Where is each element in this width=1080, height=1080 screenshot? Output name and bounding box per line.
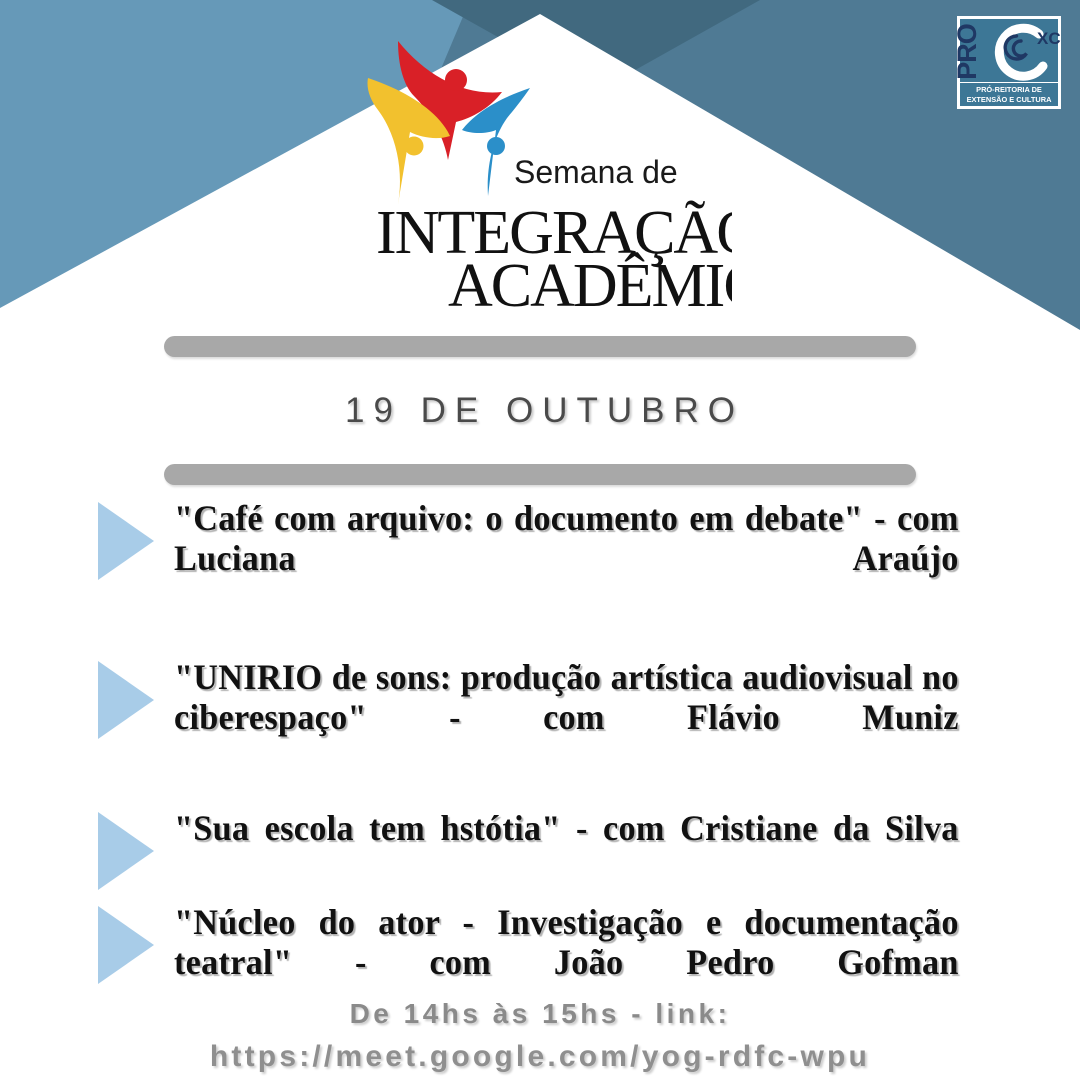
triangle-right-icon bbox=[98, 661, 154, 739]
triangle-right-icon bbox=[98, 812, 154, 890]
proexc-subtitle-line1: PRÓ-REITORIA DE bbox=[976, 85, 1042, 94]
footer-time-text: De 14hs às 15hs - link: bbox=[0, 998, 1080, 1030]
date-text: 19 DE OUTUBRO bbox=[0, 391, 1080, 431]
session-item: "Café com arquivo: o documento em debate… bbox=[0, 498, 1080, 619]
session-title: "UNIRIO de sons: produção artística audi… bbox=[174, 657, 959, 778]
poster-canvas: PRO XC PRÓ-REITORIA DE EXTENSÃO E CULTUR… bbox=[0, 0, 1080, 1080]
date-banner: 19 DE OUTUBRO bbox=[0, 336, 1080, 485]
proexc-subtitle-line2: EXTENSÃO E CULTURA bbox=[967, 95, 1053, 104]
triangle-right-icon bbox=[98, 906, 154, 984]
event-logo-line-2: ACADÊMICA bbox=[448, 252, 732, 318]
session-item: "UNIRIO de sons: produção artística audi… bbox=[0, 657, 1080, 778]
date-rule-bottom bbox=[164, 464, 916, 485]
date-rule-top bbox=[164, 336, 916, 357]
session-item: "Sua escola tem hstótia" - com Cristiane… bbox=[0, 808, 1080, 890]
proexc-pro-text: PRO bbox=[957, 24, 982, 80]
event-logo: Semana de INTEGRAÇÃO ACADÊMICA bbox=[352, 18, 732, 318]
session-title: "Sua escola tem hstótia" - com Cristiane… bbox=[174, 808, 959, 889]
triangle-right-icon bbox=[98, 502, 154, 580]
proexc-logo-svg: PRO XC PRÓ-REITORIA DE EXTENSÃO E CULTUR… bbox=[957, 16, 1061, 109]
proexc-xc-text: XC bbox=[1037, 29, 1061, 48]
session-list: "Café com arquivo: o documento em debate… bbox=[0, 498, 1080, 1023]
session-title: "Café com arquivo: o documento em debate… bbox=[174, 498, 959, 619]
footer: De 14hs às 15hs - link: https://meet.goo… bbox=[0, 998, 1080, 1074]
event-logo-line-small: Semana de bbox=[514, 154, 678, 190]
proexc-logo: PRO XC PRÓ-REITORIA DE EXTENSÃO E CULTUR… bbox=[957, 16, 1061, 109]
event-logo-svg: Semana de INTEGRAÇÃO ACADÊMICA bbox=[352, 18, 732, 318]
footer-meet-link[interactable]: https://meet.google.com/yog-rdfc-wpu bbox=[0, 1040, 1080, 1074]
